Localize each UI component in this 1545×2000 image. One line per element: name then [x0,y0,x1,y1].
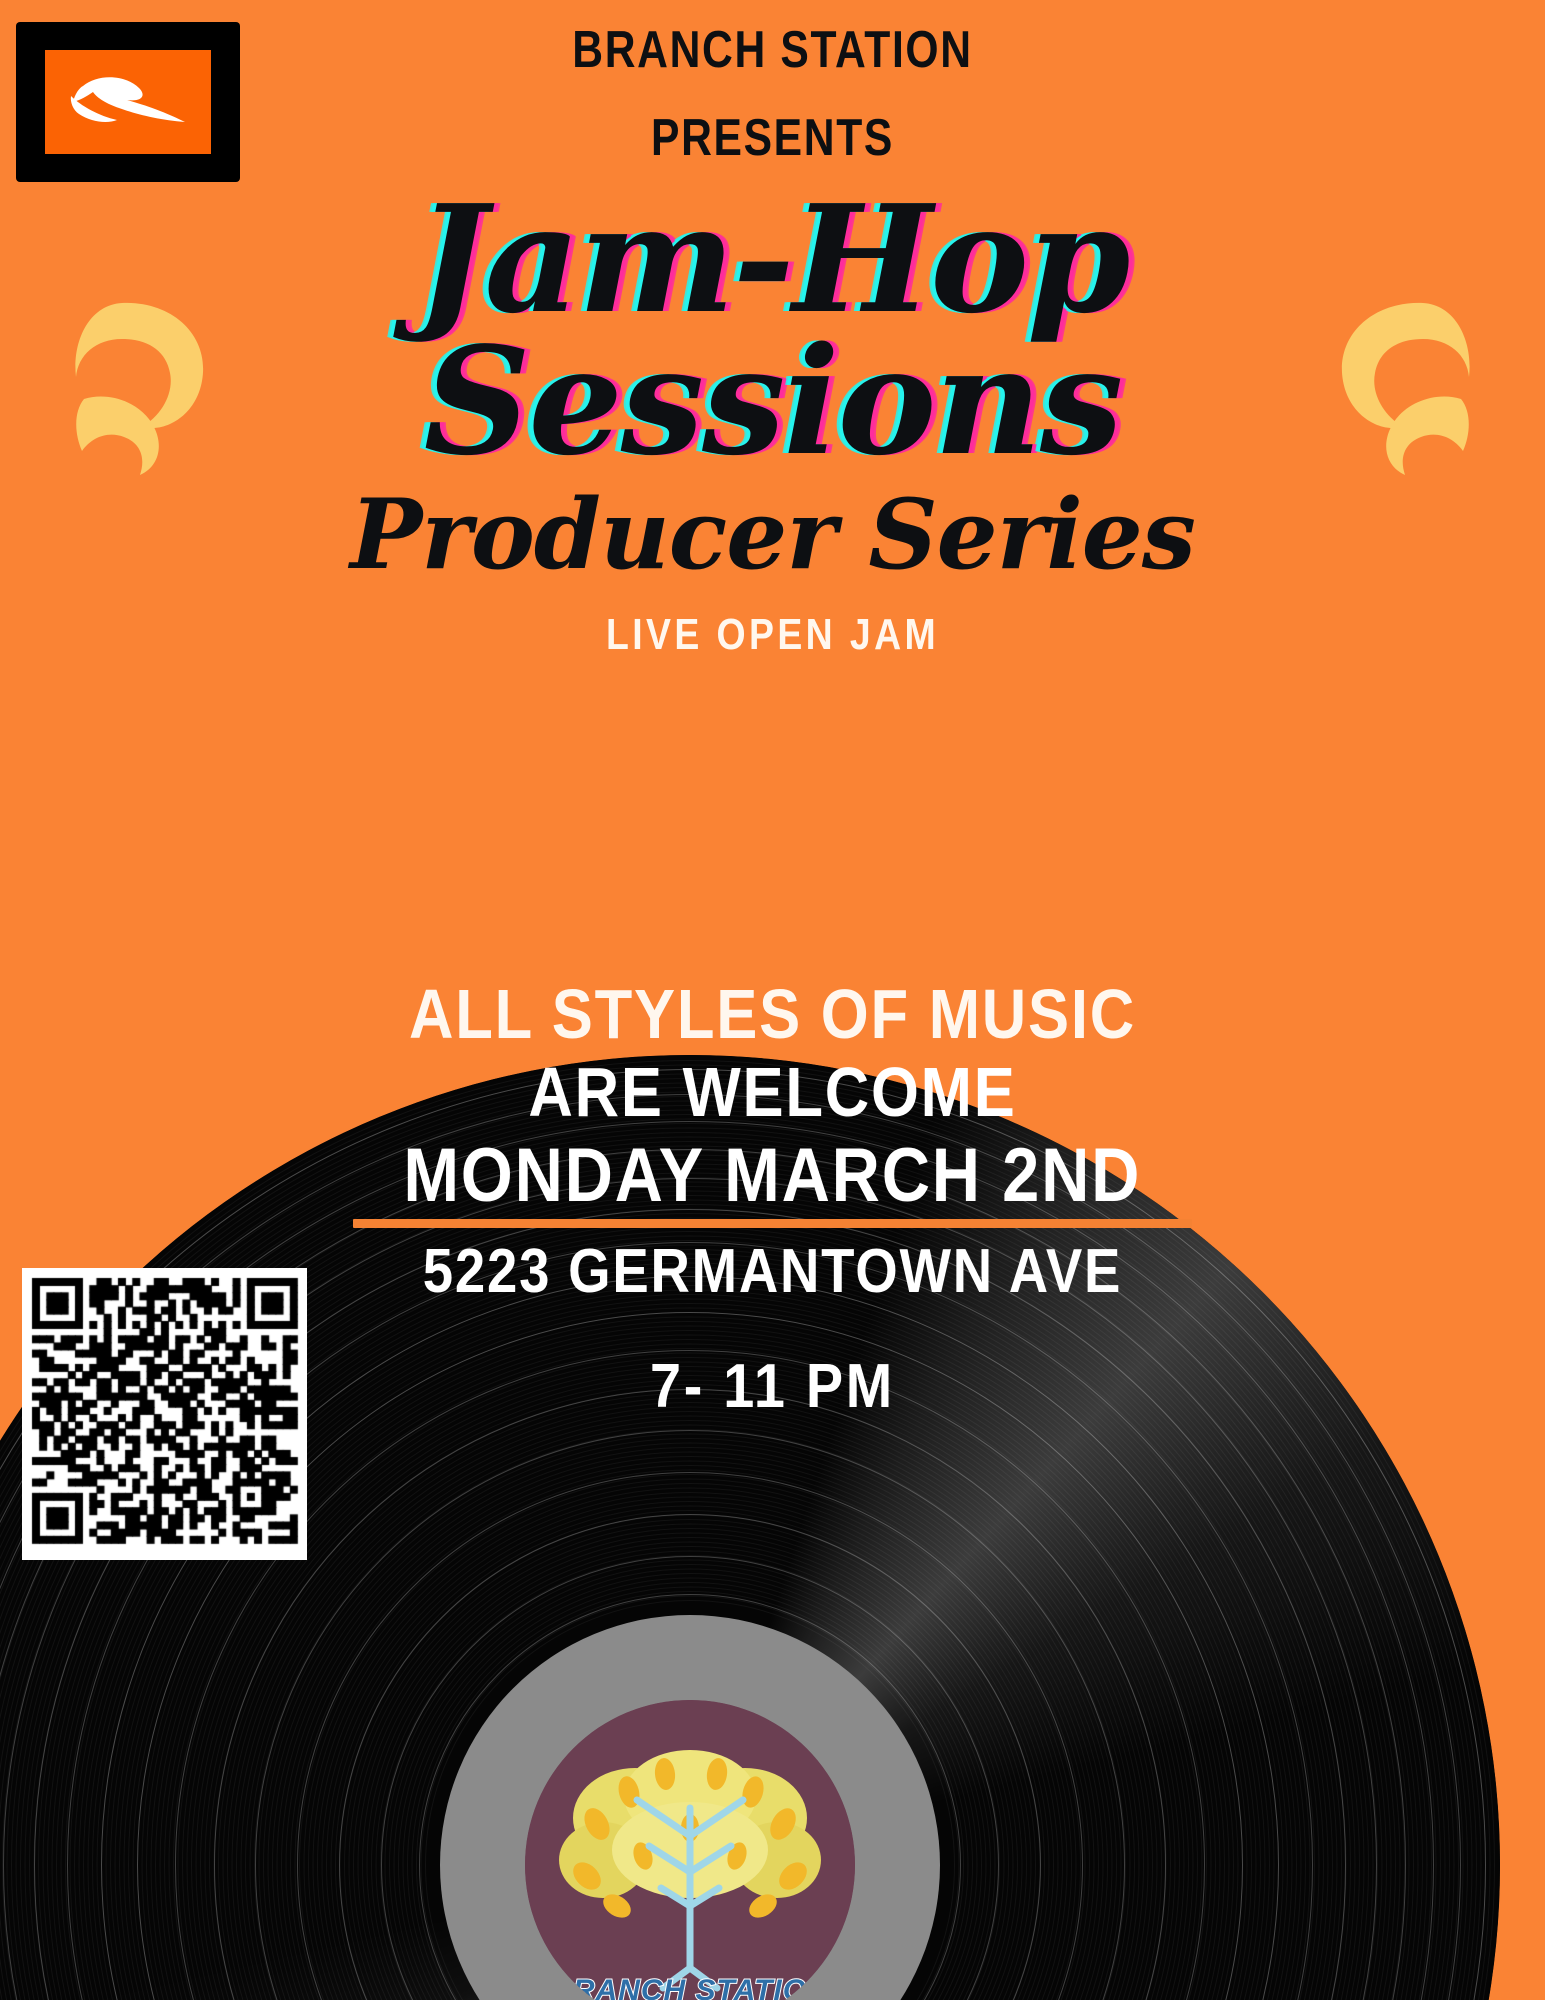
event-date-underline [353,1219,1192,1228]
poster-canvas: BRANCH STATION PRESENTS Jam-Hop Sessions… [0,0,1545,2000]
event-date-row: MONDAY MARCH 2ND [353,1134,1192,1229]
title-line-2: Sessions [0,330,1545,472]
vinyl-label-art: BRANCH STATION [525,1700,855,2000]
event-line-welcome: ARE WELCOME [93,1053,1453,1131]
kicker-line-2: PRESENTS [139,108,1406,168]
qr-code-canvas[interactable] [22,1268,307,1560]
branch-station-tree-icon: BRANCH STATION [525,1700,855,2000]
series-subtitle: Producer Series [0,478,1545,591]
event-date: MONDAY MARCH 2ND [404,1134,1142,1218]
label-wordmark: BRANCH STATION [550,1974,830,2000]
tagline: LIVE OPEN JAM [116,610,1429,660]
decorative-swoosh-left [70,295,220,480]
decorative-swoosh-right [1325,295,1475,480]
title-line-1: Jam-Hop [0,188,1545,330]
qr-code[interactable] [22,1268,307,1560]
event-line-music: ALL STYLES OF MUSIC [93,975,1453,1053]
main-title: Jam-Hop Sessions [0,188,1545,472]
kicker-line-1: BRANCH STATION [139,20,1406,80]
